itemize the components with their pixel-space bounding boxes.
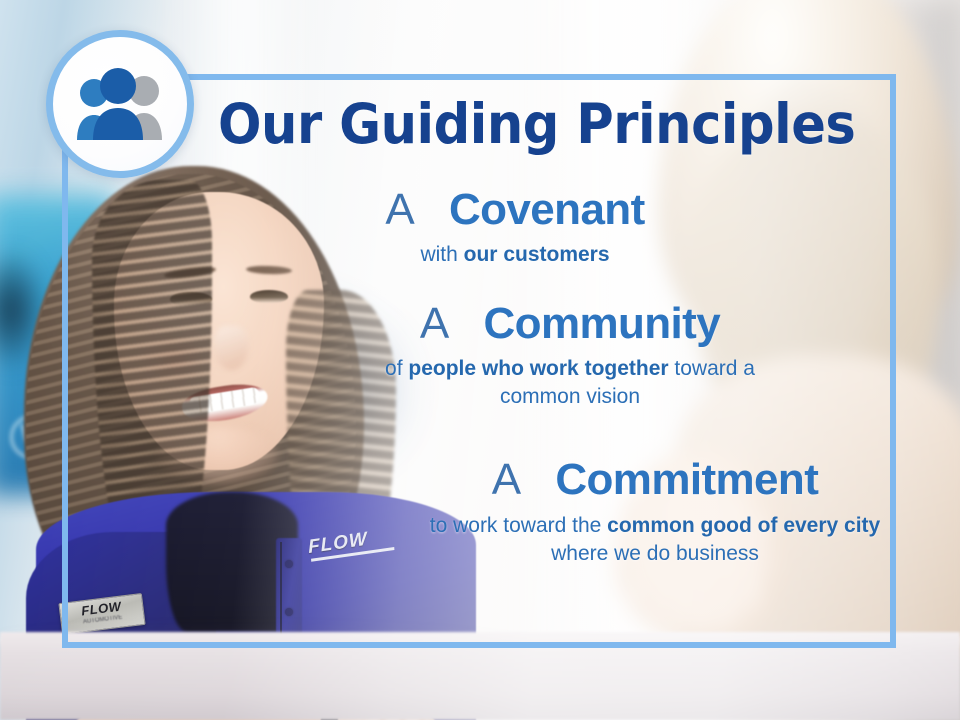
people-group-badge [46, 30, 194, 178]
guiding-principles-graphic: FLOW AUTOMOTIVE FLOW [0, 0, 960, 720]
people-group-icon [68, 66, 172, 142]
